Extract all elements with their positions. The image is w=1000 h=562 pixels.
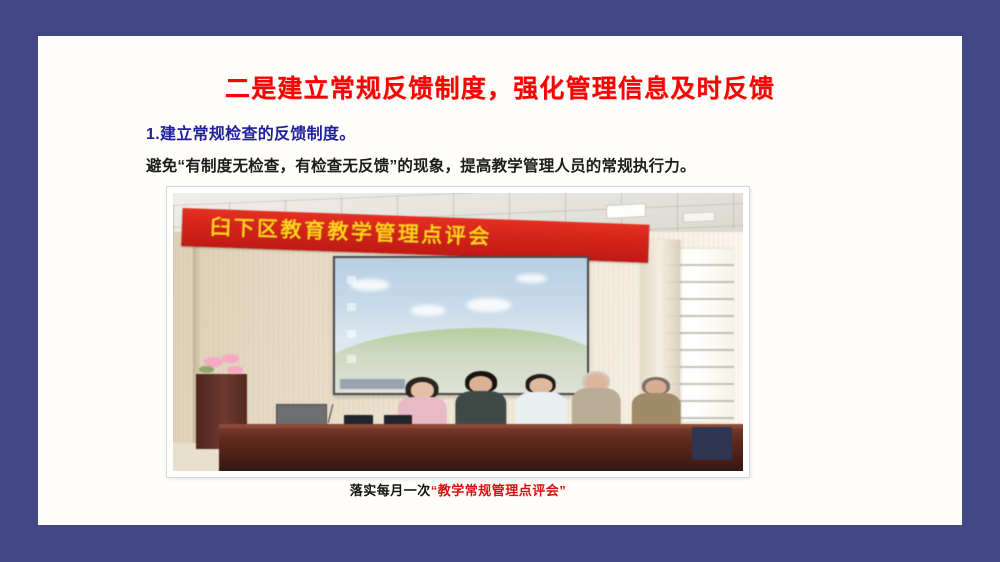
head [645, 380, 666, 394]
cloud-icon [410, 305, 445, 316]
meeting-photo: 臼下区教育教学管理点评会 [173, 193, 743, 471]
caption-red-part: “教学常规管理点评会” [431, 483, 567, 498]
leaf-icon [199, 366, 214, 373]
cloud-icon [516, 274, 546, 283]
ceiling-light-icon [606, 203, 646, 219]
banner-text: 臼下区教育教学管理点评会 [181, 217, 492, 249]
table-front-panel [219, 452, 743, 471]
person-seated [572, 371, 620, 429]
person-seated [455, 371, 506, 429]
head [411, 382, 433, 398]
photo-caption: 落实每月一次“教学常规管理点评会” [167, 483, 749, 499]
person-seated [632, 377, 680, 430]
table-edge [219, 424, 743, 428]
cloud-icon [466, 298, 511, 312]
flower-icon [227, 366, 243, 375]
sub-heading: 1.建立常规检查的反馈制度。 [146, 120, 356, 144]
caption-black-part: 落实每月一次 [350, 483, 431, 498]
taskbar [340, 379, 406, 388]
desktop-icon [347, 303, 356, 311]
flower-arrangement [199, 354, 250, 379]
head [469, 376, 493, 392]
person-seated [515, 374, 566, 430]
flower-icon [222, 354, 239, 363]
desktop-icon [347, 276, 356, 284]
page-title: 二是建立常规反馈制度，强化管理信息及时反馈 [38, 76, 962, 104]
desktop-icon [347, 355, 356, 363]
desktop-icon [347, 330, 356, 338]
body-paragraph: 避免“有制度无检查，有检查无反馈”的现象，提高教学管理人员的常规执行力。 [146, 154, 696, 176]
slide-canvas: 二是建立常规反馈制度，强化管理信息及时反馈 1.建立常规检查的反馈制度。 避免“… [38, 36, 962, 525]
flower-icon [204, 357, 223, 367]
chair [692, 427, 732, 460]
ceiling-light-secondary-icon [683, 211, 715, 223]
photo-frame: 臼下区教育教学管理点评会 [167, 187, 749, 477]
